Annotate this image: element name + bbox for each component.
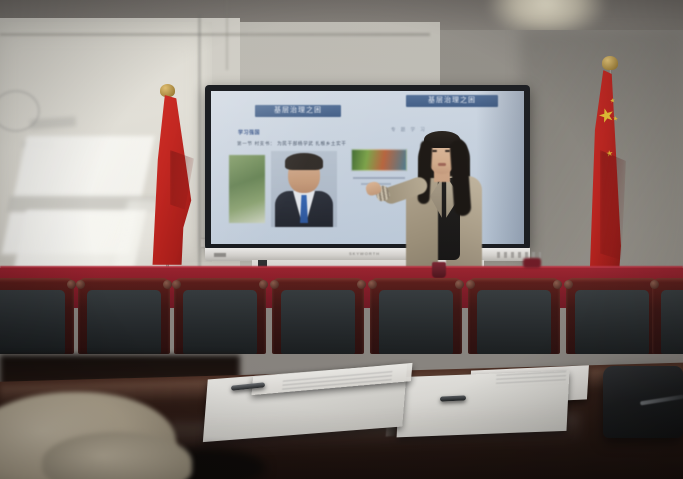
chair-knob [172,280,181,289]
chair[interactable] [0,278,74,354]
presenter-mouth [438,163,446,166]
chair-seatback [183,290,257,354]
flagpole-finial-icon [160,84,175,97]
chair-knob [76,280,85,289]
slide-logo: 学习强国 [238,129,260,136]
chair-seatback [661,290,683,354]
slide-banner-left: 基层治理之困 [255,105,341,117]
chair-seatback [0,290,65,354]
slide-landscape-photo [229,155,265,223]
chair-knob [553,280,562,289]
photo-scene: 基层治理之困 基层治理之困 学习强国 专 题 学 习 第一节 村支书： 为民干部… [0,0,683,479]
chair-knob [67,280,76,289]
chair[interactable] [468,278,560,354]
chair-knob [368,280,377,289]
chair-seatback [477,290,551,354]
chair[interactable] [272,278,364,354]
chair-knob [466,280,475,289]
chair-knob [455,280,464,289]
chair-knob [270,280,279,289]
chair[interactable] [370,278,462,354]
chair-knob [259,280,268,289]
chair[interactable] [566,278,658,354]
chair[interactable] [78,278,170,354]
slide-portrait-photo [271,151,337,227]
drinking-cup[interactable] [432,262,446,278]
flag-shadow [600,150,626,260]
chair-knob [163,280,172,289]
chair-seatback [281,290,355,354]
chair-seatback [575,290,649,354]
desk-prop [523,258,541,268]
chair-knob [650,280,659,289]
chair-seatback [379,290,453,354]
display-brand-label: SKYWORTH [349,251,380,256]
chair[interactable] [174,278,266,354]
slide-banner-right: 基层治理之困 [406,95,498,107]
flagpole-finial-icon [602,56,618,70]
ceiling-wall-seam [0,33,430,36]
presenter-eye [432,150,437,152]
chair-knob [357,280,366,289]
whiteboard-mark [30,116,77,129]
chair[interactable] [652,278,683,354]
portrait-hair [285,153,323,170]
display-power-led [214,253,226,257]
chair-knob [564,280,573,289]
chair-seatback [87,290,161,354]
wall-seam [226,0,228,70]
